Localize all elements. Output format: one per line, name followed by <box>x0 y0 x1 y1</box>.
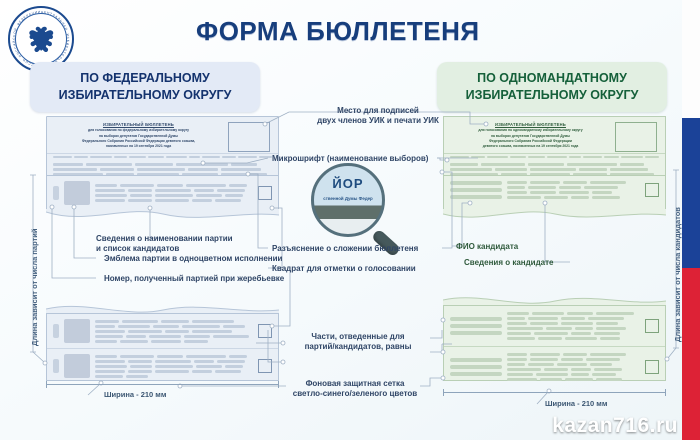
infographic-page: ЦЕНТРАЛЬНАЯ ИЗБИРАТЕЛЬНАЯ КОМИССИЯ РОССИ… <box>0 0 700 440</box>
callout-candidate-name: ФИО кандидата <box>456 242 518 252</box>
ballot-federal-microfont-line <box>47 153 278 160</box>
ballot-single-torn-edge <box>443 209 666 225</box>
width-dimension-line-right <box>443 392 666 393</box>
magnifier-zoom-text: ЙОР <box>314 176 382 191</box>
ballot-federal-line4: назначенных на 19 сентября 2021 года <box>53 144 224 149</box>
ballot-single-top: ИЗБИРАТЕЛЬНЫЙ БЮЛЛЕТЕНЬ для голосования … <box>443 116 666 189</box>
callout-party-number: Номер, полученный партией при жеребьевке <box>104 274 284 284</box>
russian-flag-stripe <box>682 0 700 440</box>
callout-party-info: Сведения о наименовании партии и список … <box>96 234 233 255</box>
ballot-single-top-panel: ИЗБИРАТЕЛЬНЫЙ БЮЛЛЕТЕНЬ для голосования … <box>443 116 666 176</box>
vote-mark-square <box>258 359 272 373</box>
ballot-federal-header: ИЗБИРАТЕЛЬНЫЙ БЮЛЛЕТЕНЬ для голосования … <box>47 117 278 153</box>
ballot-single-entry-block <box>443 175 666 211</box>
vote-mark-square <box>645 183 659 197</box>
dimension-width-right: Ширина - 210 мм <box>545 399 607 408</box>
vote-mark-square <box>645 360 659 374</box>
callout-signatures-line2: двух членов УИК и печати УИК <box>300 116 456 126</box>
ballot-entry <box>444 176 665 204</box>
page-title: ФОРМА БЮЛЛЕТЕНЯ <box>196 16 480 47</box>
candidate-info-lines <box>507 312 640 340</box>
party-info-lines <box>95 355 253 378</box>
callout-security-net-line2: светло-синего/зеленого цветов <box>290 389 420 399</box>
ballot-entry <box>47 314 278 348</box>
dimension-width-left: Ширина - 210 мм <box>104 390 166 399</box>
ballot-federal-entry-block <box>46 175 279 211</box>
callout-security-net-line1: Фоновая защитная сетка <box>290 379 420 389</box>
callout-equal-parts-line2: партий/кандидатов, равны <box>290 342 426 352</box>
ballot-entry <box>47 348 278 383</box>
party-number-box <box>53 324 59 338</box>
callout-equal-parts-line1: Части, отведенные для <box>290 332 426 342</box>
callout-security-net: Фоновая защитная сетка светло-синего/зел… <box>290 379 420 400</box>
callout-party-info-line1: Сведения о наименовании партии <box>96 234 233 244</box>
magnifier-icon: ЙОР ственной Думы Федер <box>311 163 385 237</box>
callout-candidate-info: Сведения о кандидате <box>464 258 554 268</box>
candidate-name-lines <box>450 358 502 376</box>
header-federal-district: ПО ФЕДЕРАЛЬНОМУ ИЗБИРАТЕЛЬНОМУ ОКРУГУ <box>30 62 260 112</box>
flag-red-band <box>682 268 700 440</box>
callout-party-emblem: Эмблема партии в одноцветном исполнении <box>104 254 282 264</box>
party-number-box <box>53 359 59 373</box>
ballot-federal-entries <box>46 313 279 381</box>
header-single-mandate-label: ПО ОДНОМАНДАТНОМУ ИЗБИРАТЕЛЬНОМУ ОКРУГУ <box>447 70 657 104</box>
ballot-entry <box>444 346 665 387</box>
ballot-single-stamp-box <box>615 122 657 152</box>
vote-mark-square <box>258 186 272 200</box>
party-emblem-box <box>64 319 90 343</box>
watermark: kazan716.ru <box>552 414 678 438</box>
callout-signatures: Место для подписей двух членов УИК и печ… <box>300 106 456 127</box>
callout-vote-square: Квадрат для отметки о голосовании <box>272 264 416 274</box>
magnifier-glass: ЙОР ственной Думы Федер <box>311 163 385 237</box>
ballot-single-header: ИЗБИРАТЕЛЬНЫЙ БЮЛЛЕТЕНЬ для голосования … <box>444 117 665 153</box>
party-emblem-box <box>64 181 90 205</box>
flag-blue-band <box>682 118 700 268</box>
party-info-lines <box>95 184 253 202</box>
ballot-federal-top: ИЗБИРАТЕЛЬНЫЙ БЮЛЛЕТЕНЬ для голосования … <box>46 116 279 189</box>
party-emblem-box <box>64 354 90 378</box>
ballot-single-microfont-line <box>444 153 665 160</box>
ballot-entry <box>444 306 665 346</box>
ballot-federal-stamp-box <box>228 122 270 152</box>
candidate-info-lines <box>507 353 640 381</box>
candidate-name-lines <box>450 317 502 335</box>
callout-equal-parts: Части, отведенные для партий/кандидатов,… <box>290 332 426 353</box>
ballot-federal-top-panel: ИЗБИРАТЕЛЬНЫЙ БЮЛЛЕТЕНЬ для голосования … <box>46 116 279 176</box>
header-federal-label: ПО ФЕДЕРАЛЬНОМУ ИЗБИРАТЕЛЬНОМУ ОКРУГУ <box>40 70 250 104</box>
magnifier-zoom-subtext: ственной Думы Федер <box>314 196 382 201</box>
flag-white-band <box>682 0 700 118</box>
ballot-single-line4: девятого созыва, назначенных на 19 сентя… <box>450 144 611 149</box>
ballot-single-bottom <box>443 292 666 384</box>
callout-microfont: Микрошрифт (наименование выборов) <box>272 154 428 164</box>
party-number-box <box>53 186 59 200</box>
callout-signatures-line1: Место для подписей <box>300 106 456 116</box>
ballot-federal-bottom <box>46 300 279 384</box>
double-headed-eagle-icon <box>23 21 59 57</box>
header-single-mandate-district: ПО ОДНОМАНДАТНОМУ ИЗБИРАТЕЛЬНОМУ ОКРУГУ <box>437 62 667 112</box>
ballot-entry <box>47 176 278 210</box>
callout-folding: Разъяснение о сложении бюллетеня <box>272 244 418 254</box>
candidate-info-lines <box>507 181 640 199</box>
candidate-name-lines <box>450 181 502 199</box>
party-info-lines <box>95 320 253 343</box>
dimension-length-candidates: Длина зависит от числа кандидатов <box>673 207 682 342</box>
vote-mark-square <box>645 319 659 333</box>
dimension-length-parties: Длина зависит от числа партий <box>30 229 39 346</box>
width-dimension-line-left <box>46 384 279 385</box>
ballot-federal-torn-edge <box>46 209 279 225</box>
ballot-single-entries <box>443 305 666 381</box>
vote-mark-square <box>258 324 272 338</box>
